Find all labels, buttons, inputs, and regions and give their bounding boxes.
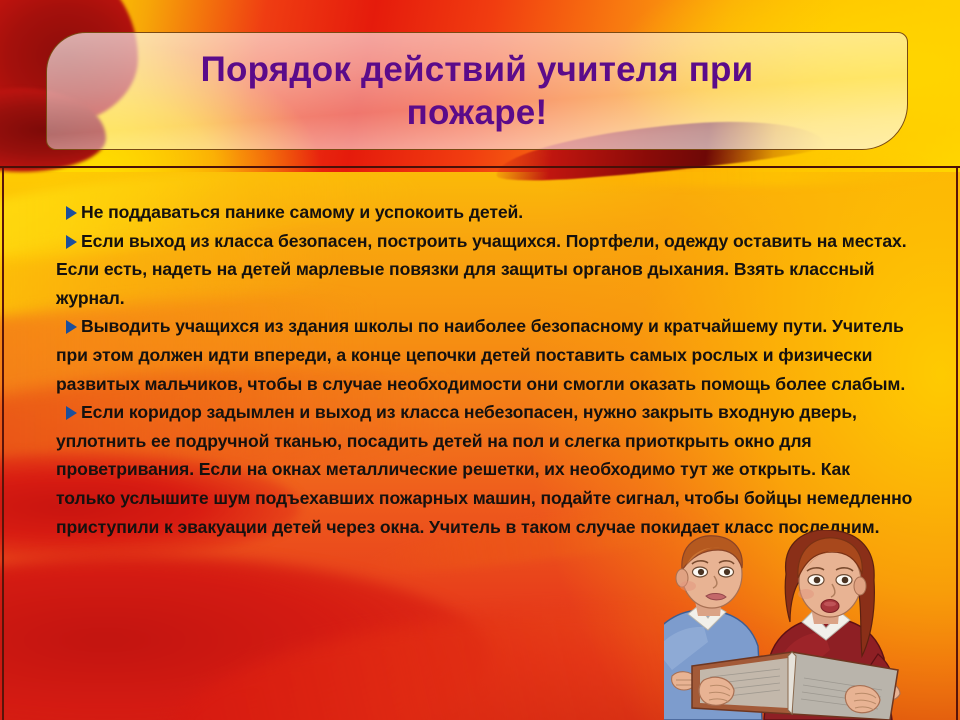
list-item-text: Если выход из класса безопасен, построит… [56, 231, 907, 308]
list-item-text: Не поддаваться панике самому и успокоить… [81, 202, 523, 222]
boy-hand-on-book [699, 677, 734, 705]
list-item: Если выход из класса безопасен, построит… [56, 227, 914, 313]
list-item-text: Выводить учащихся из здания школы по наи… [56, 316, 905, 393]
triangle-right-icon [66, 206, 77, 220]
list-item: Выводить учащихся из здания школы по наи… [56, 312, 914, 398]
body-content: Не поддаваться панике самому и успокоить… [56, 198, 914, 541]
list-item: Не поддаваться панике самому и успокоить… [56, 198, 914, 227]
children-reading-illustration [664, 530, 942, 720]
triangle-right-icon [66, 406, 77, 420]
triangle-right-icon [66, 320, 77, 334]
triangle-right-icon [66, 235, 77, 249]
presentation-slide: Порядок действий учителя при пожаре! Не … [0, 0, 960, 720]
list-item-text: Если коридор задымлен и выход из класса … [56, 402, 912, 536]
title-plate: Порядок действий учителя при пожаре! [46, 32, 908, 150]
page-title: Порядок действий учителя при пожаре! [157, 48, 797, 135]
list-item: Если коридор задымлен и выход из класса … [56, 398, 914, 541]
